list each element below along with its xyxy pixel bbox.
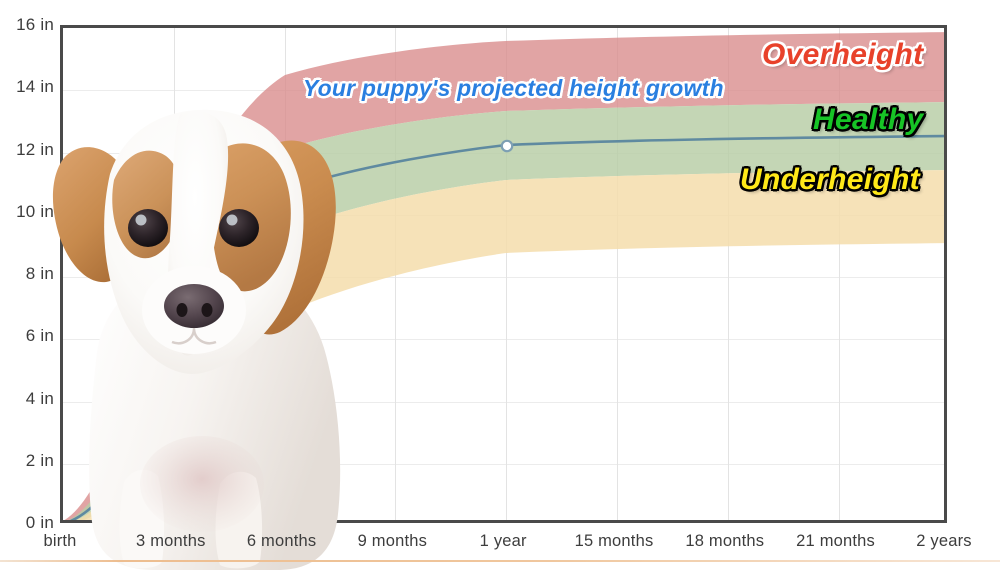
- puppy-nose: [164, 284, 224, 328]
- bottom-accent-rule: [0, 560, 1000, 562]
- projection-annotation-label: Your puppy's projected height growth: [303, 75, 724, 102]
- puppy-eye-highlight-left: [136, 215, 147, 226]
- x-tick-21-months: 21 months: [796, 532, 875, 551]
- y-tick-14: 14 in: [0, 77, 54, 97]
- zone-label-underheight: Underheight: [740, 163, 920, 197]
- projected-height-point-marker[interactable]: [500, 139, 514, 153]
- x-tick-3-months: 3 months: [136, 532, 205, 551]
- x-tick-15-months: 15 months: [575, 532, 654, 551]
- y-tick-8: 8 in: [0, 264, 54, 284]
- puppy-nostril-right: [202, 303, 213, 317]
- puppy-nostril-left: [177, 303, 188, 317]
- puppy-photo: [52, 52, 362, 570]
- x-tick-6-months: 6 months: [247, 532, 316, 551]
- zone-label-overheight: Overheight: [762, 38, 923, 72]
- x-tick-2-years: 2 years: [916, 532, 972, 551]
- y-tick-2: 2 in: [0, 451, 54, 471]
- zone-label-healthy: Healthy: [813, 103, 923, 137]
- puppy-belly-shading: [140, 436, 264, 532]
- x-tick-1-year: 1 year: [480, 532, 527, 551]
- y-tick-0: 0 in: [0, 513, 54, 533]
- y-tick-4: 4 in: [0, 389, 54, 409]
- chart-stage: 16 in 14 in 12 in 10 in 8 in 6 in 4 in 2…: [0, 0, 1000, 570]
- y-tick-10: 10 in: [0, 202, 54, 222]
- x-tick-birth: birth: [43, 532, 76, 551]
- puppy-eye-right: [219, 209, 259, 247]
- puppy-eye-highlight-right: [227, 215, 238, 226]
- y-tick-12: 12 in: [0, 140, 54, 160]
- y-tick-6: 6 in: [0, 326, 54, 346]
- x-tick-18-months: 18 months: [685, 532, 764, 551]
- x-tick-9-months: 9 months: [358, 532, 427, 551]
- y-tick-16: 16 in: [0, 15, 54, 35]
- puppy-eye-left: [128, 209, 168, 247]
